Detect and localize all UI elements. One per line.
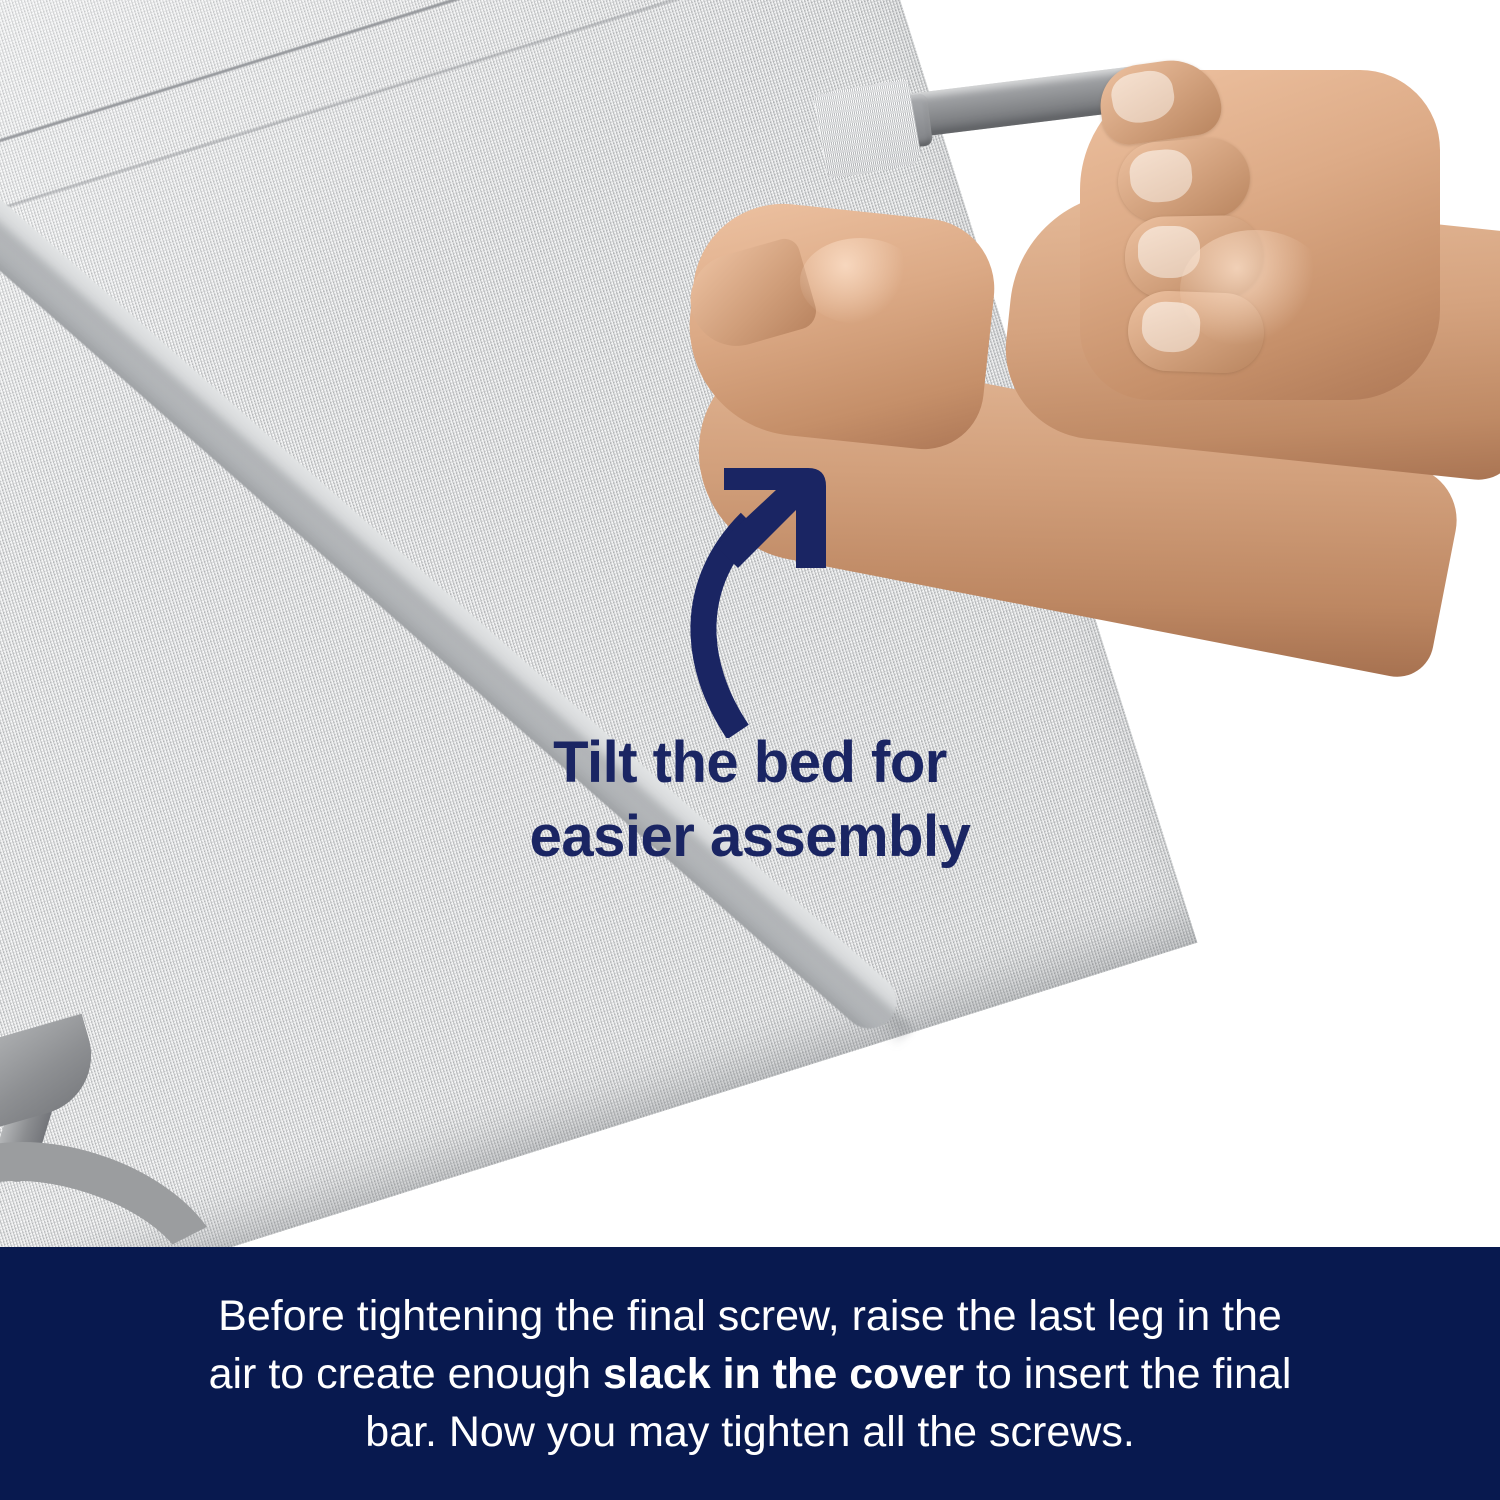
caption-text: Before tightening the final screw, raise… — [130, 1287, 1370, 1461]
curved-up-right-arrow-icon — [676, 448, 856, 738]
left-hand-knuckle-highlight — [800, 238, 920, 324]
caption-banner: Before tightening the final screw, raise… — [0, 1247, 1500, 1500]
headline: Tilt the bed for easier assembly — [0, 726, 1500, 874]
right-hand-knuckle-highlight — [1180, 230, 1330, 350]
product-photo: Tilt the bed for easier assembly — [0, 0, 1500, 1250]
cover-corner-at-frame — [813, 78, 922, 179]
instruction-graphic: Tilt the bed for easier assembly Before … — [0, 0, 1500, 1500]
headline-line-1: Tilt the bed for — [0, 726, 1500, 800]
caption-emphasis: slack in the cover — [603, 1350, 964, 1398]
bed-mesh-cover — [0, 0, 1197, 1250]
headline-line-2: easier assembly — [0, 800, 1500, 874]
